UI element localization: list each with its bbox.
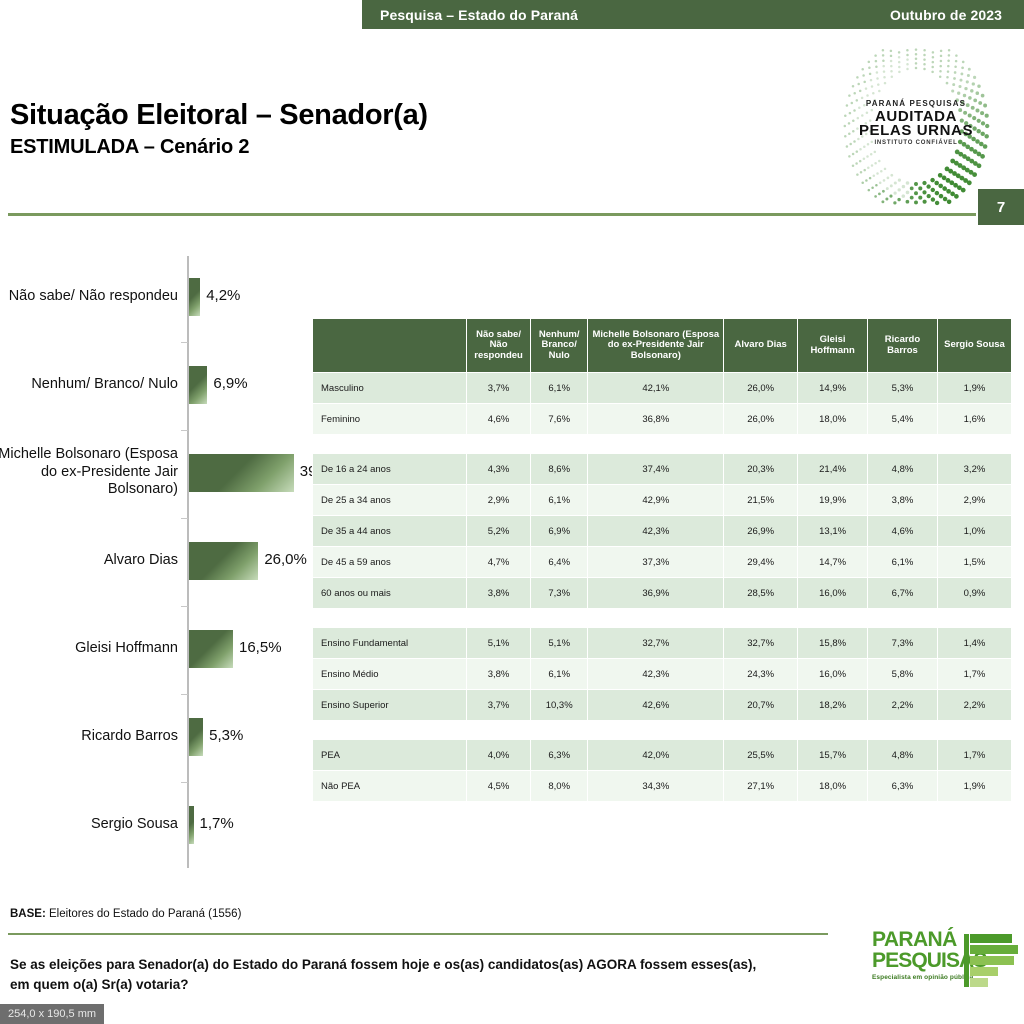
table-cell: 2,9% [937,485,1011,516]
table-cell: 6,1% [868,547,938,578]
table-cell: 34,3% [588,771,724,802]
table-cell: 5,1% [467,628,531,659]
parana-pesquisas-logo: PARANÁ PESQUISAS Especialista em opinião… [872,928,1018,994]
table-row: De 16 a 24 anos4,3%8,6%37,4%20,3%21,4%4,… [313,454,1012,485]
header-date: Outubro de 2023 [890,7,1002,23]
table-cell: 2,9% [467,485,531,516]
table-row-label: De 45 a 59 anos [313,547,467,578]
table-cell: 4,7% [467,547,531,578]
table-cell: 20,3% [724,454,798,485]
table-header-cell: Sergio Sousa [937,319,1011,373]
chart-category-label: Não sabe/ Não respondeu [0,288,178,306]
table-row-label: 60 anos ou mais [313,578,467,609]
slide: Pesquisa – Estado do Paraná Outubro de 2… [0,0,1024,1024]
question-line-2: em quem o(a) Sr(a) votaria? [10,975,770,995]
table-cell: 7,6% [530,404,588,435]
chart-bar [189,454,294,492]
question-line-1: Se as eleições para Senador(a) do Estado… [10,955,770,975]
chart-tick [181,782,188,783]
table-cell: 42,9% [588,485,724,516]
seal-line-4: INSTITUTO CONFIÁVEL [836,140,996,146]
table-row-label: Ensino Fundamental [313,628,467,659]
seal-text: PARANÁ PESQUISAS AUDITADA PELAS URNAS IN… [836,100,996,146]
table-cell: 1,9% [937,771,1011,802]
table-spacer-cell [313,435,1012,454]
table-cell: 0,9% [937,578,1011,609]
table-cell: 4,0% [467,740,531,771]
header-divider [8,213,976,216]
table-cell: 6,3% [530,740,588,771]
table-cell: 7,3% [868,628,938,659]
table-header-cell: Nenhum/ Branco/ Nulo [530,319,588,373]
table-head: Não sabe/ Não respondeuNenhum/ Branco/ N… [313,319,1012,373]
table-spacer-cell [313,609,1012,628]
table-row: Feminino4,6%7,6%36,8%26,0%18,0%5,4%1,6% [313,404,1012,435]
table-cell: 10,3% [530,690,588,721]
table-cell: 42,3% [588,516,724,547]
table-cell: 21,4% [798,454,868,485]
table-cell: 8,6% [530,454,588,485]
table-cell: 28,5% [724,578,798,609]
table-cell: 6,1% [530,659,588,690]
chart-value-label: 1,7% [200,815,234,832]
table-row: Ensino Fundamental5,1%5,1%32,7%32,7%15,8… [313,628,1012,659]
table-cell: 6,1% [530,485,588,516]
table-row: De 35 a 44 anos5,2%6,9%42,3%26,9%13,1%4,… [313,516,1012,547]
question-text: Se as eleições para Senador(a) do Estado… [10,955,770,994]
table-cell: 5,1% [530,628,588,659]
chart-tick [181,430,188,431]
table-row: De 45 a 59 anos4,7%6,4%37,3%29,4%14,7%6,… [313,547,1012,578]
table-header-cell: Ricardo Barros [868,319,938,373]
table-cell: 13,1% [798,516,868,547]
header-title: Pesquisa – Estado do Paraná [380,7,578,23]
table-row: 60 anos ou mais3,8%7,3%36,9%28,5%16,0%6,… [313,578,1012,609]
chart-tick [181,518,188,519]
table-cell: 3,2% [937,454,1011,485]
table-cell: 15,7% [798,740,868,771]
brand-mark-icon [964,930,1020,992]
table-cell: 5,2% [467,516,531,547]
table-row-label: De 25 a 34 anos [313,485,467,516]
table-row-label: PEA [313,740,467,771]
table-cell: 1,4% [937,628,1011,659]
chart-bar [189,278,200,316]
table-cell: 26,9% [724,516,798,547]
page-title-block: Situação Eleitoral – Senador(a) ESTIMULA… [10,100,428,159]
chart-bar [189,806,194,844]
table-header-row: Não sabe/ Não respondeuNenhum/ Branco/ N… [313,319,1012,373]
table-row: Masculino3,7%6,1%42,1%26,0%14,9%5,3%1,9% [313,373,1012,404]
chart-bar [189,366,207,404]
table-cell: 32,7% [724,628,798,659]
table-cell: 18,0% [798,771,868,802]
page-subtitle: ESTIMULADA – Cenário 2 [10,136,428,159]
page-number: 7 [978,189,1024,225]
table-row-label: Ensino Superior [313,690,467,721]
seal-line-1: PARANÁ PESQUISAS [836,100,996,108]
table-row: Ensino Superior3,7%10,3%42,6%20,7%18,2%2… [313,690,1012,721]
table-spacer-cell [313,721,1012,740]
chart-category-label: Sergio Sousa [0,816,178,834]
table-cell: 18,0% [798,404,868,435]
chart-value-label: 16,5% [239,639,282,656]
table-row-label: De 35 a 44 anos [313,516,467,547]
header-bar: Pesquisa – Estado do Paraná Outubro de 2… [362,0,1024,29]
table-cell: 37,3% [588,547,724,578]
table-cell: 42,1% [588,373,724,404]
table-cell: 29,4% [724,547,798,578]
table-row: PEA4,0%6,3%42,0%25,5%15,7%4,8%1,7% [313,740,1012,771]
table-header-cell: Alvaro Dias [724,319,798,373]
table-cell: 18,2% [798,690,868,721]
table-cell: 27,1% [724,771,798,802]
table-group-spacer [313,721,1012,740]
table-cell: 3,7% [467,690,531,721]
table-group-spacer [313,609,1012,628]
table-cell: 6,7% [868,578,938,609]
table-cell: 20,7% [724,690,798,721]
table-cell: 32,7% [588,628,724,659]
table-cell: 36,8% [588,404,724,435]
table-row-label: De 16 a 24 anos [313,454,467,485]
chart-tick [181,606,188,607]
table-cell: 1,9% [937,373,1011,404]
table-cell: 16,0% [798,578,868,609]
chart-category-label: Alvaro Dias [0,552,178,570]
chart-tick [181,694,188,695]
base-text: Eleitores do Estado do Paraná (1556) [46,908,242,920]
table-cell: 42,3% [588,659,724,690]
table-cell: 42,6% [588,690,724,721]
table-cell: 6,9% [530,516,588,547]
crosstab-table: Não sabe/ Não respondeuNenhum/ Branco/ N… [312,318,1012,802]
table-header-cell: Michelle Bolsonaro (Esposa do ex-Preside… [588,319,724,373]
base-line: BASE: Eleitores do Estado do Paraná (155… [10,908,241,920]
crosstab-table-wrapper: Não sabe/ Não respondeuNenhum/ Branco/ N… [312,318,1012,802]
table-group-spacer [313,435,1012,454]
table-cell: 3,8% [467,659,531,690]
table-header-cell: Gleisi Hoffmann [798,319,868,373]
table-cell: 25,5% [724,740,798,771]
table-row-label: Feminino [313,404,467,435]
chart-category-label: Gleisi Hoffmann [0,640,178,658]
table-cell: 5,4% [868,404,938,435]
table-body: Masculino3,7%6,1%42,1%26,0%14,9%5,3%1,9%… [313,373,1012,802]
table-cell: 5,3% [868,373,938,404]
page-title: Situação Eleitoral – Senador(a) [10,100,428,131]
chart-bar [189,542,258,580]
table-row: De 25 a 34 anos2,9%6,1%42,9%21,5%19,9%3,… [313,485,1012,516]
dimensions-badge: 254,0 x 190,5 mm [0,1004,104,1024]
table-cell: 7,3% [530,578,588,609]
audited-seal: PARANÁ PESQUISAS AUDITADA PELAS URNAS IN… [836,46,996,206]
chart-category-label: Nenhum/ Branco/ Nulo [0,376,178,394]
table-cell: 6,1% [530,373,588,404]
chart-value-label: 4,2% [206,287,240,304]
table-cell: 1,7% [937,659,1011,690]
table-cell: 1,6% [937,404,1011,435]
table-cell: 3,8% [868,485,938,516]
table-cell: 26,0% [724,373,798,404]
seal-line-3: PELAS URNAS [836,123,996,138]
table-cell: 42,0% [588,740,724,771]
chart-value-label: 6,9% [213,375,247,392]
table-cell: 8,0% [530,771,588,802]
table-header-corner [313,319,467,373]
table-cell: 3,7% [467,373,531,404]
table-cell: 19,9% [798,485,868,516]
table-cell: 6,4% [530,547,588,578]
chart-category-label: Ricardo Barros [0,728,178,746]
table-cell: 37,4% [588,454,724,485]
table-row-label: Masculino [313,373,467,404]
table-cell: 6,3% [868,771,938,802]
table-cell: 4,6% [868,516,938,547]
chart-bar [189,718,203,756]
footer-divider [8,933,828,935]
table-cell: 24,3% [724,659,798,690]
table-cell: 1,0% [937,516,1011,547]
table-cell: 4,5% [467,771,531,802]
table-cell: 3,8% [467,578,531,609]
chart-value-label: 26,0% [264,551,307,568]
table-cell: 15,8% [798,628,868,659]
table-cell: 1,5% [937,547,1011,578]
table-row: Não PEA4,5%8,0%34,3%27,1%18,0%6,3%1,9% [313,771,1012,802]
table-cell: 36,9% [588,578,724,609]
base-label: BASE: [10,908,46,920]
table-cell: 16,0% [798,659,868,690]
table-cell: 14,9% [798,373,868,404]
table-row: Ensino Médio3,8%6,1%42,3%24,3%16,0%5,8%1… [313,659,1012,690]
table-row-label: Não PEA [313,771,467,802]
table-cell: 4,3% [467,454,531,485]
chart-category-label: Michelle Bolsonaro (Esposado ex-Presiden… [0,446,178,499]
chart-bar [189,630,233,668]
table-cell: 2,2% [937,690,1011,721]
table-header-cell: Não sabe/ Não respondeu [467,319,531,373]
table-cell: 5,8% [868,659,938,690]
table-cell: 4,8% [868,740,938,771]
table-cell: 26,0% [724,404,798,435]
chart-value-label: 5,3% [209,727,243,744]
table-cell: 21,5% [724,485,798,516]
table-cell: 14,7% [798,547,868,578]
chart-tick [181,342,188,343]
table-cell: 2,2% [868,690,938,721]
bar-chart: Não sabe/ Não respondeu4,2%Nenhum/ Branc… [0,252,300,872]
table-cell: 1,7% [937,740,1011,771]
table-cell: 4,6% [467,404,531,435]
table-row-label: Ensino Médio [313,659,467,690]
table-cell: 4,8% [868,454,938,485]
